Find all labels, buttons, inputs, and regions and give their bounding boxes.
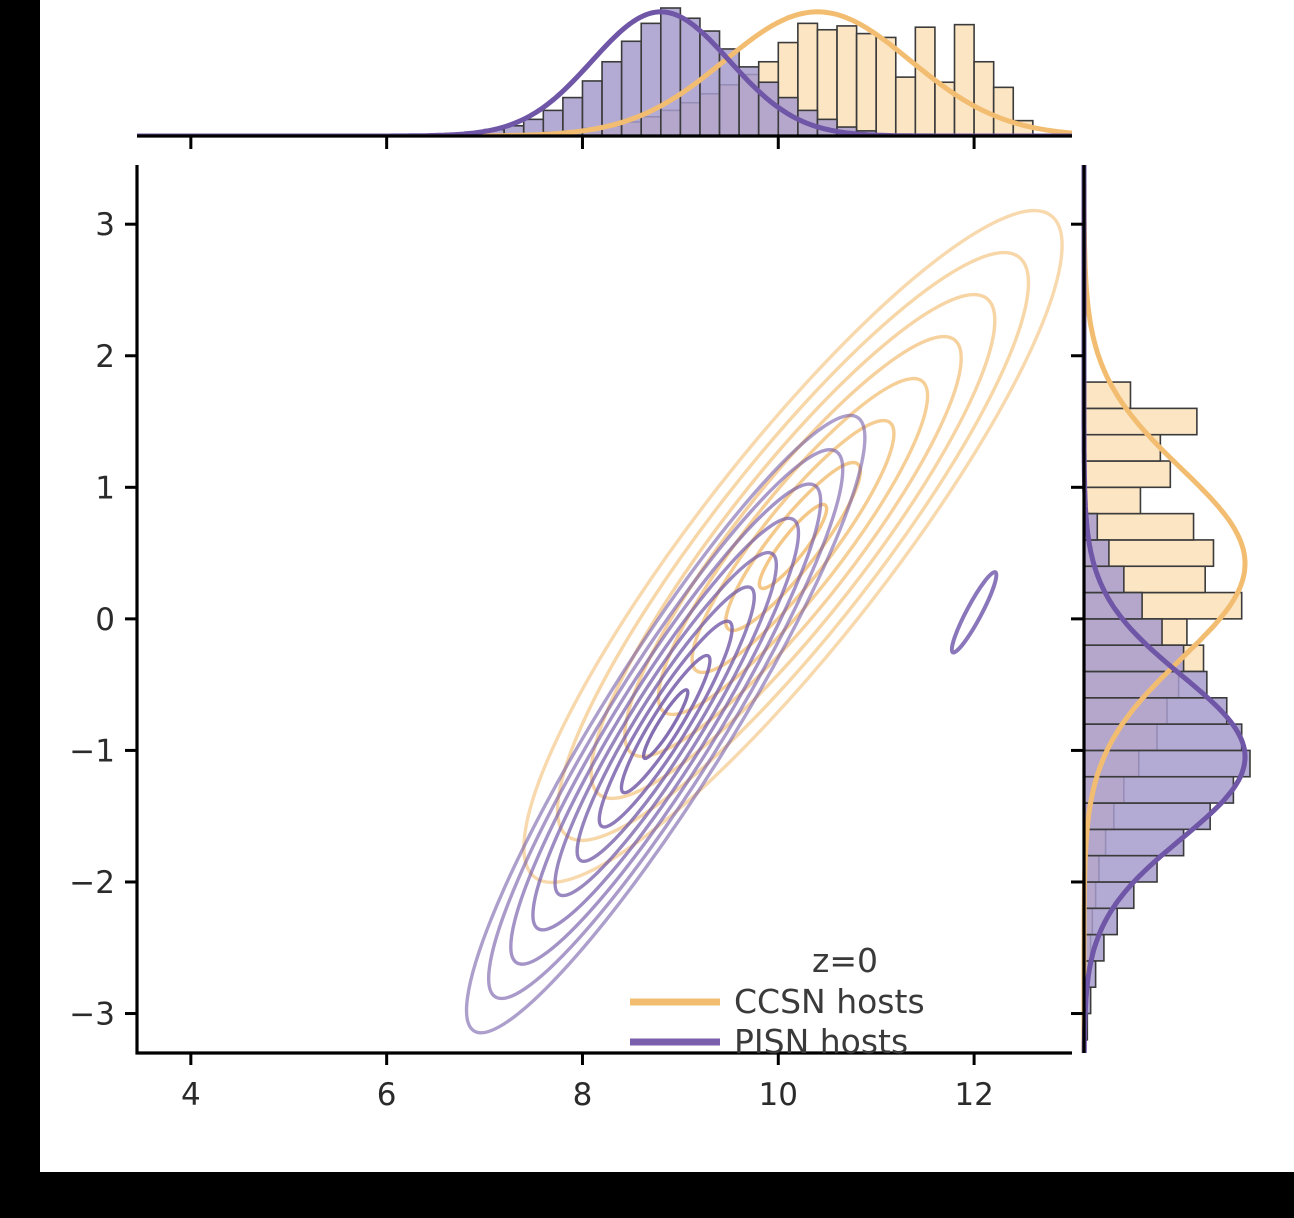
histogram-bar	[1084, 461, 1170, 487]
histogram-bar	[915, 27, 935, 136]
y-tick-labels: 3210−1−2−3	[69, 207, 115, 1032]
legend-label-ccsn: CCSN hosts	[734, 982, 925, 1021]
histogram-bar	[759, 82, 779, 136]
histogram-bar	[1084, 514, 1194, 540]
histogram-bar	[661, 8, 681, 136]
y-tick-label: −3	[69, 997, 115, 1033]
histogram-bar	[1084, 698, 1227, 724]
x-tick-label: 12	[954, 1077, 993, 1113]
histogram-bar	[994, 87, 1014, 136]
histogram-bar	[1084, 487, 1140, 513]
histogram-bar	[680, 18, 700, 136]
histogram-bar	[857, 34, 877, 136]
histogram-bar	[974, 62, 994, 136]
y-tick-label: 3	[95, 207, 115, 243]
histogram-bar	[1084, 777, 1233, 803]
histogram-bar	[955, 25, 975, 136]
top-marginal-ticks	[191, 136, 974, 149]
y-tick-label: −1	[69, 733, 115, 769]
right-marginal-panel	[1084, 165, 1250, 1053]
legend[interactable]: z=0 CCSN hosts PISN hosts	[630, 941, 925, 1061]
figure-root: lo	[0, 0, 1294, 1218]
histogram-bar	[1084, 882, 1134, 908]
y-tick-label: 1	[95, 470, 115, 506]
legend-label-pisn: PISN hosts	[734, 1022, 908, 1061]
joint-plot-svg: 4681012 3210−1−2−3 z=0 CCSN hosts PISN h…	[40, 0, 1294, 1172]
histogram-bar	[896, 77, 916, 136]
legend-entry-pisn[interactable]: PISN hosts	[630, 1022, 908, 1061]
joint-y-ticks	[125, 224, 137, 1013]
x-tick-label: 8	[573, 1077, 593, 1113]
histogram-bar	[1084, 750, 1250, 776]
histogram-bar	[876, 37, 896, 136]
legend-entry-ccsn[interactable]: CCSN hosts	[630, 982, 925, 1021]
x-tick-labels: 4681012	[181, 1077, 994, 1113]
y-tick-label: −2	[69, 865, 115, 901]
histogram-bar	[837, 26, 857, 136]
histogram-bar	[1084, 408, 1197, 434]
kde-contour-level	[529, 535, 802, 913]
legend-title: z=0	[812, 941, 878, 980]
figure-canvas: lo	[40, 0, 1294, 1172]
y-tick-label: 0	[95, 602, 115, 638]
joint-contours	[420, 157, 1127, 1065]
ccsn-kde-contours	[459, 157, 1126, 936]
x-tick-label: 6	[377, 1077, 397, 1113]
x-tick-label: 4	[181, 1077, 201, 1113]
histogram-bar	[641, 23, 661, 136]
top-marginal-panel	[137, 8, 1072, 136]
histogram-bar	[1084, 803, 1210, 829]
pisn-outlier-contour	[946, 569, 1002, 656]
x-tick-label: 10	[759, 1077, 798, 1113]
y-tick-label: 2	[95, 339, 115, 375]
